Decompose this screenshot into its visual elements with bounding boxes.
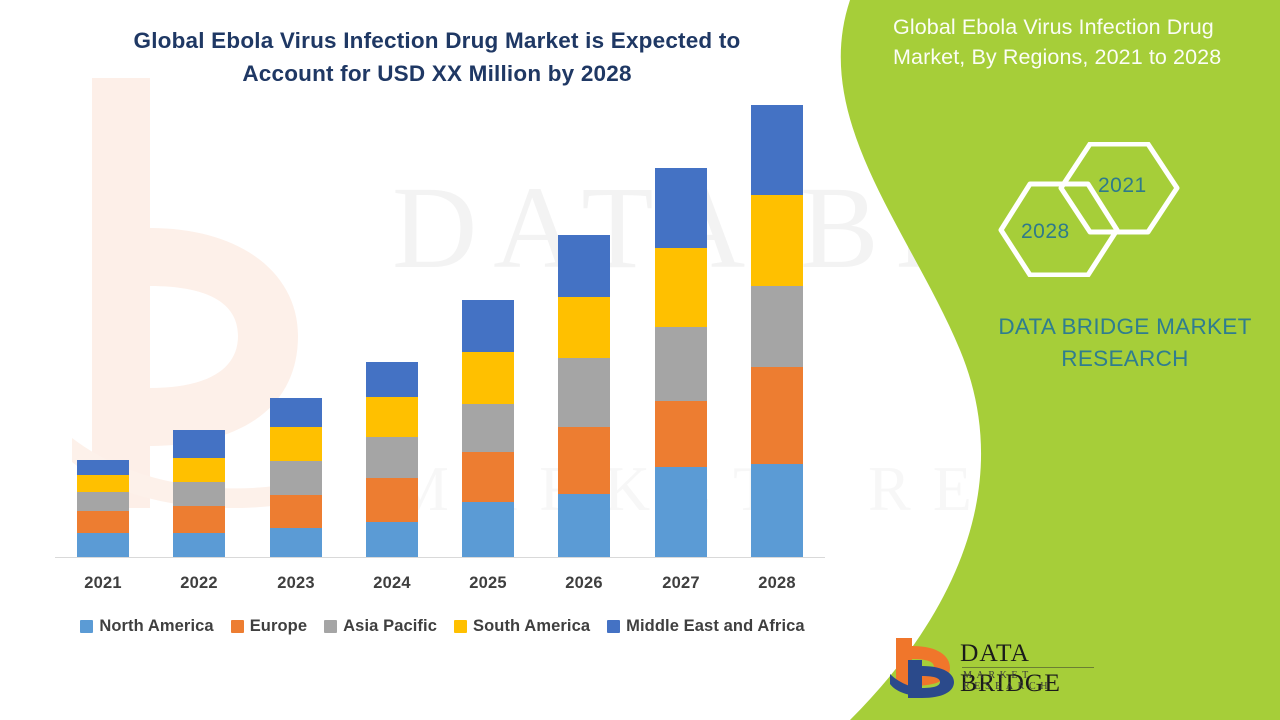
bar-segment[interactable]: [270, 528, 322, 557]
bar-segment[interactable]: [751, 105, 803, 195]
legend-item[interactable]: South America: [454, 617, 590, 636]
x-axis-label-2024: 2024: [352, 574, 432, 593]
legend-label: North America: [99, 617, 213, 636]
bar-segment[interactable]: [655, 467, 707, 557]
x-axis-label-2026: 2026: [544, 574, 624, 593]
bar-segment[interactable]: [558, 494, 610, 557]
bar-segment[interactable]: [77, 533, 129, 557]
bar-segment[interactable]: [751, 195, 803, 286]
bar-segment[interactable]: [77, 492, 129, 511]
bar-segment[interactable]: [366, 437, 418, 478]
legend-swatch-icon: [324, 620, 337, 633]
legend-item[interactable]: Asia Pacific: [324, 617, 437, 636]
bar-segment[interactable]: [462, 404, 514, 451]
hex-label-end-year: 2028: [1021, 220, 1070, 244]
panel-title: Global Ebola Virus Infection Drug Market…: [893, 12, 1265, 72]
panel-brand-line2: RESEARCH: [975, 343, 1275, 375]
bar-segment[interactable]: [751, 464, 803, 557]
bar-segment[interactable]: [270, 495, 322, 528]
bar-segment[interactable]: [558, 427, 610, 494]
bar-segment[interactable]: [173, 482, 225, 506]
bar-2027[interactable]: [655, 168, 707, 557]
x-axis-label-2021: 2021: [63, 574, 143, 593]
bar-segment[interactable]: [366, 478, 418, 522]
hexagon-outline-icon: [985, 142, 1195, 277]
bar-2023[interactable]: [270, 398, 322, 557]
legend-label: South America: [473, 617, 590, 636]
bar-segment[interactable]: [751, 367, 803, 464]
bar-segment[interactable]: [462, 502, 514, 557]
legend-item[interactable]: Europe: [231, 617, 307, 636]
bar-segment[interactable]: [462, 352, 514, 404]
bar-segment[interactable]: [270, 398, 322, 427]
bar-segment[interactable]: [77, 460, 129, 475]
bar-segment[interactable]: [655, 248, 707, 327]
infographic-slide: DATA BRIDGE MARKET RESEARCH Global Ebola…: [0, 0, 1280, 720]
bar-segment[interactable]: [751, 286, 803, 367]
logo-divider: [962, 667, 1094, 668]
x-axis-label-2027: 2027: [641, 574, 721, 593]
legend-label: Asia Pacific: [343, 617, 437, 636]
hexagon-year-badges: 2021 2028: [985, 142, 1195, 277]
legend-swatch-icon: [454, 620, 467, 633]
bar-segment[interactable]: [462, 300, 514, 352]
bar-segment[interactable]: [558, 235, 610, 297]
bar-segment[interactable]: [173, 506, 225, 533]
chart-legend: North AmericaEuropeAsia PacificSouth Ame…: [55, 617, 830, 636]
data-bridge-logo: DATA BRIDGE MARKET RESEARCH: [888, 632, 1113, 702]
x-axis-label-2028: 2028: [737, 574, 817, 593]
stacked-bar-chart: [55, 100, 825, 558]
x-axis-label-2022: 2022: [159, 574, 239, 593]
legend-label: Europe: [250, 617, 307, 636]
data-bridge-logo-icon: [888, 634, 956, 700]
x-axis-labels: 20212022202320242025202620272028: [55, 574, 825, 600]
panel-brand-name: DATA BRIDGE MARKET RESEARCH: [975, 311, 1275, 375]
bar-segment[interactable]: [655, 401, 707, 468]
x-axis-label-2025: 2025: [448, 574, 528, 593]
bar-2022[interactable]: [173, 430, 225, 557]
bar-segment[interactable]: [270, 427, 322, 461]
logo-tagline: MARKET RESEARCH: [963, 670, 1113, 692]
bar-2021[interactable]: [77, 460, 129, 557]
bar-2024[interactable]: [366, 362, 418, 557]
panel-brand-line1: DATA BRIDGE MARKET: [975, 311, 1275, 343]
bar-segment[interactable]: [462, 452, 514, 503]
bar-segment[interactable]: [77, 475, 129, 492]
bar-segment[interactable]: [366, 522, 418, 557]
legend-swatch-icon: [80, 620, 93, 633]
bar-2025[interactable]: [462, 300, 514, 557]
legend-swatch-icon: [231, 620, 244, 633]
bar-segment[interactable]: [558, 358, 610, 427]
legend-item[interactable]: Middle East and Africa: [607, 617, 805, 636]
bar-segment[interactable]: [173, 533, 225, 557]
bar-segment[interactable]: [173, 458, 225, 482]
legend-label: Middle East and Africa: [626, 617, 805, 636]
bar-segment[interactable]: [270, 461, 322, 495]
bar-2026[interactable]: [558, 235, 610, 557]
bar-segment[interactable]: [173, 430, 225, 458]
legend-swatch-icon: [607, 620, 620, 633]
bar-segment[interactable]: [366, 397, 418, 437]
chart-title: Global Ebola Virus Infection Drug Market…: [92, 24, 782, 90]
bar-segment[interactable]: [655, 327, 707, 401]
legend-item[interactable]: North America: [80, 617, 213, 636]
bar-segment[interactable]: [366, 362, 418, 397]
bar-segment[interactable]: [77, 511, 129, 533]
bar-segment[interactable]: [655, 168, 707, 248]
x-axis-label-2023: 2023: [256, 574, 336, 593]
bar-segment[interactable]: [558, 297, 610, 359]
x-axis-line: [55, 557, 825, 558]
bar-2028[interactable]: [751, 105, 803, 557]
hex-label-start-year: 2021: [1098, 174, 1147, 198]
